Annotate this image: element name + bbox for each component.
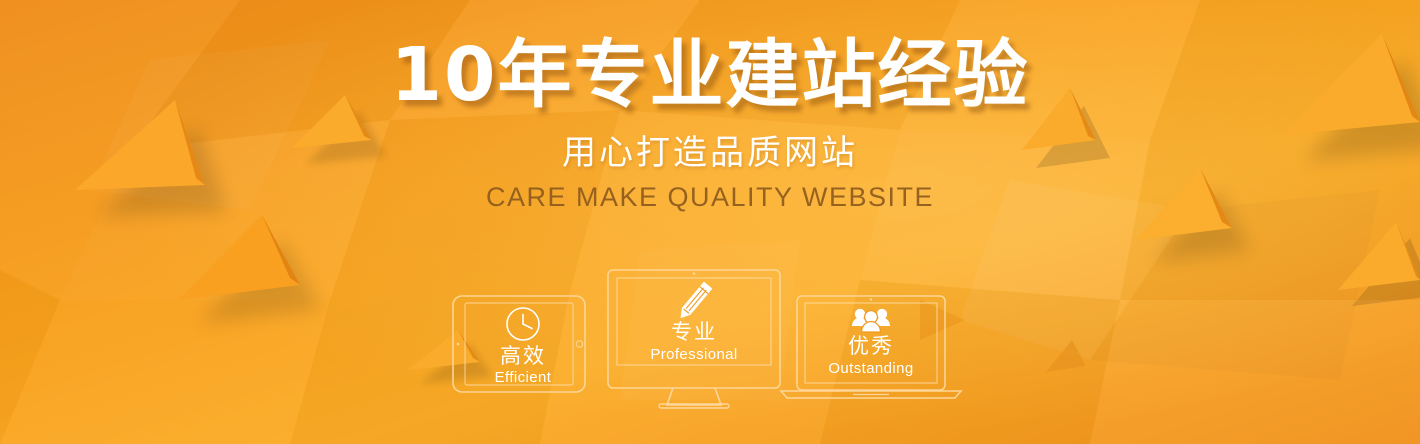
monitor-label-cn: 专业	[671, 320, 717, 344]
laptop-label-en: Outstanding	[828, 360, 913, 377]
laptop-camera-dot	[870, 298, 872, 300]
devices-svg: 高效 Efficient 专业 Profession	[445, 260, 975, 412]
promo-banner: 10年专业建站经验 用心打造品质网站 CARE MAKE QUALITY WEB…	[0, 0, 1420, 444]
device-tablet: 高效 Efficient	[453, 296, 585, 392]
device-monitor: 专业 Professional	[608, 270, 780, 408]
pencil-icon	[676, 282, 712, 322]
tablet-label-en: Efficient	[495, 369, 552, 386]
page-title: 10年专业建站经验	[391, 38, 1030, 112]
laptop-label-cn: 优秀	[848, 334, 894, 358]
device-laptop: 优秀 Outstanding	[781, 296, 961, 398]
clock-icon	[507, 308, 539, 340]
subtitle-chinese: 用心打造品质网站	[562, 136, 858, 170]
people-group-icon	[852, 309, 890, 332]
tablet-home-button	[576, 341, 582, 347]
monitor-label-en: Professional	[650, 346, 737, 363]
monitor-stand	[667, 388, 721, 405]
subtitle-english: CARE MAKE QUALITY WEBSITE	[486, 184, 934, 211]
tablet-camera-dot	[457, 343, 460, 346]
tablet-label-cn: 高效	[500, 344, 546, 368]
monitor-camera-dot	[693, 272, 696, 275]
monitor-base	[659, 404, 729, 408]
device-illustration-group: 高效 Efficient 专业 Profession	[0, 252, 1420, 412]
